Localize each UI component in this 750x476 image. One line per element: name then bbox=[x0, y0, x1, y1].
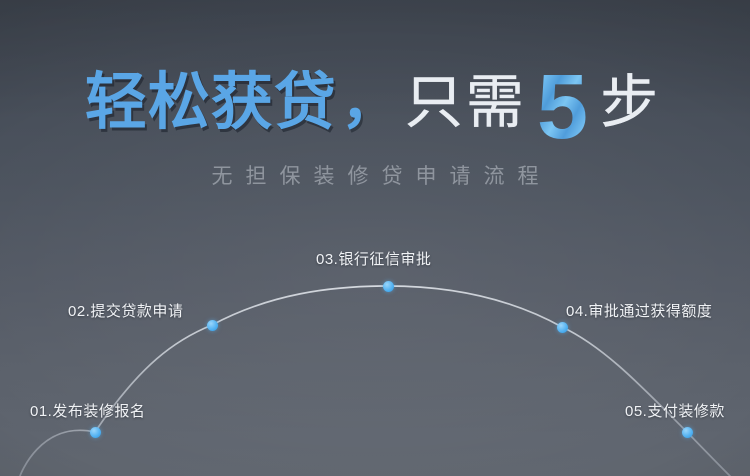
flow-label-step-04: 04.审批通过获得额度 bbox=[566, 300, 712, 321]
infographic-canvas: 轻松获贷，只需5步 无担保装修贷申请流程 01.发布装修报名 bbox=[0, 0, 750, 476]
flow-dot-step-05[interactable] bbox=[682, 427, 693, 438]
flow-dot-step-04[interactable] bbox=[557, 322, 568, 333]
flow-dot-step-03[interactable] bbox=[383, 281, 394, 292]
flow-label-step-05: 05.支付装修款 bbox=[625, 400, 725, 421]
flow-dot-step-02[interactable] bbox=[207, 320, 218, 331]
flow-label-step-01: 01.发布装修报名 bbox=[30, 400, 145, 421]
flow-label-step-03: 03.银行征信审批 bbox=[316, 248, 431, 269]
flow-label-step-02: 02.提交贷款申请 bbox=[68, 300, 183, 321]
flow-dot-step-01[interactable] bbox=[90, 427, 101, 438]
process-flow-diagram: 01.发布装修报名 02.提交贷款申请 03.银行征信审批 04.审批通过获得额… bbox=[0, 0, 750, 476]
